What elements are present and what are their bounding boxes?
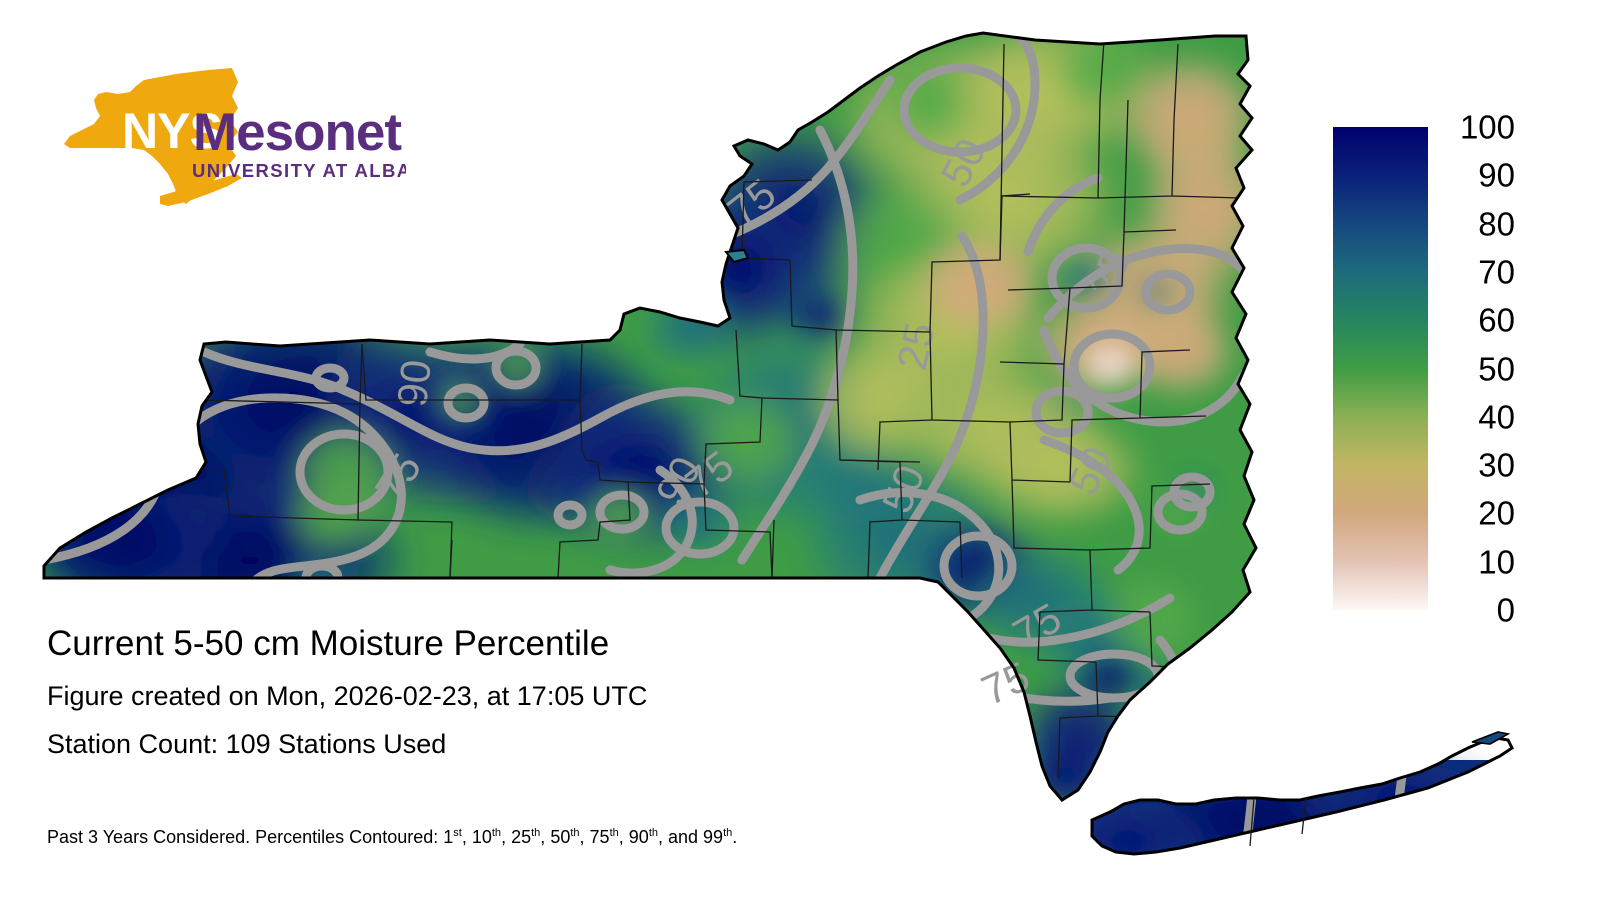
footnote-separator: , — [501, 827, 511, 847]
figure-footnote: Past 3 Years Considered. Percentiles Con… — [47, 827, 1147, 848]
footnote-separator: , — [540, 827, 550, 847]
footnote-prefix: Past 3 Years Considered. Percentiles Con… — [47, 827, 443, 847]
colorbar-tick-70: 70 — [1478, 255, 1515, 288]
contour-label-90: 90 — [388, 358, 440, 409]
nys-mesonet-logo: NYS Mesonet UNIVERSITY AT ALBANY — [56, 58, 406, 208]
footnote-ordinal-suffix: th — [492, 827, 501, 839]
colorbar-tick-20: 20 — [1478, 497, 1515, 530]
footnote-percentile-75: 75 — [590, 827, 610, 847]
figure-created-timestamp: Figure created on Mon, 2026-02-23, at 17… — [47, 683, 1047, 710]
colorbar-tick-90: 90 — [1478, 159, 1515, 192]
colorbar-tick-100: 100 — [1460, 111, 1515, 144]
colorbar-tick-10: 10 — [1478, 545, 1515, 578]
colorbar-tick-0: 0 — [1497, 594, 1515, 627]
colorbar: 1009080706050403020100 — [1333, 127, 1583, 617]
footnote-ordinal-suffix: th — [723, 827, 732, 839]
footnote-percentile-90: 90 — [629, 827, 649, 847]
footnote-ordinal-suffix: th — [649, 827, 658, 839]
colorbar-tick-80: 80 — [1478, 207, 1515, 240]
footnote-ordinal-suffix: st — [453, 827, 462, 839]
colorbar-tick-50: 50 — [1478, 352, 1515, 385]
colorbar-gradient — [1333, 127, 1428, 610]
contour-label-25b: 25 — [888, 318, 944, 373]
footnote-percentile-10: 10 — [472, 827, 492, 847]
logo-mesonet-text: Mesonet — [193, 103, 401, 162]
footnote-percentile-50: 50 — [550, 827, 570, 847]
footnote-percentile-1: 1 — [443, 827, 453, 847]
footnote-separator: , and — [658, 827, 703, 847]
footnote-percentile-99: 99 — [703, 827, 723, 847]
moisture-field-long-island — [1050, 755, 1550, 890]
footnote-separator: , — [619, 827, 629, 847]
footnote-ordinal-suffix: th — [610, 827, 619, 839]
colorbar-tick-40: 40 — [1478, 400, 1515, 433]
footnote-separator: . — [732, 827, 737, 847]
colorbar-tick-labels: 1009080706050403020100 — [1428, 127, 1583, 610]
figure-station-count: Station Count: 109 Stations Used — [47, 731, 1047, 758]
logo-affiliation-text: UNIVERSITY AT ALBANY — [192, 160, 406, 181]
footnote-separator: , — [462, 827, 472, 847]
footnote-ordinal-suffix: th — [570, 827, 579, 839]
colorbar-tick-30: 30 — [1478, 449, 1515, 482]
colorbar-tick-60: 60 — [1478, 304, 1515, 337]
figure-title: Current 5-50 cm Moisture Percentile — [47, 626, 1047, 661]
caption-block: Current 5-50 cm Moisture Percentile Figu… — [47, 626, 1047, 758]
footnote-percentile-25: 25 — [511, 827, 531, 847]
footnote-ordinal-suffix: th — [531, 827, 540, 839]
footnote-separator: , — [580, 827, 590, 847]
